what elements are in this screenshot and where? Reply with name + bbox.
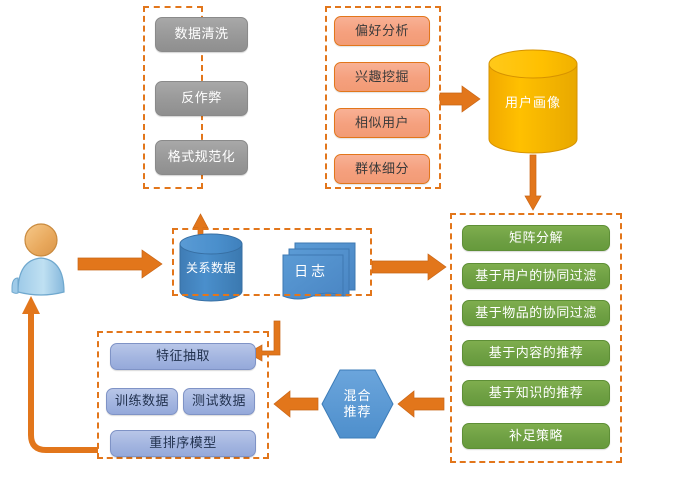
hybrid-label-line1: 混合 — [343, 388, 371, 403]
node-label: 特征抽取 — [156, 349, 210, 364]
node-label: 数据清洗 — [174, 27, 228, 42]
node-feature-extraction[interactable]: 特征抽取 — [110, 343, 256, 370]
node-label: 测试数据 — [192, 394, 246, 409]
node-label: 基于知识的推荐 — [489, 386, 584, 401]
arrow-algorithms-to-hybrid — [398, 391, 444, 417]
relational-db-cylinder[interactable]: 关系数据 — [180, 234, 242, 301]
node-label: 基于内容的推荐 — [489, 346, 584, 361]
logs-label: 日志 — [283, 261, 339, 281]
logs-stack[interactable]: 日志 — [283, 243, 355, 299]
user-profile-cylinder-label: 用户画像 — [505, 92, 561, 111]
node-interest-mining[interactable]: 兴趣挖掘 — [334, 62, 430, 92]
node-training-data[interactable]: 训练数据 — [106, 388, 178, 415]
node-item-based-cf[interactable]: 基于物品的协同过滤 — [462, 300, 610, 326]
node-label: 补足策略 — [509, 429, 563, 444]
user-profile-cylinder[interactable]: 用户画像 — [489, 50, 577, 153]
node-label: 群体细分 — [355, 162, 409, 177]
arrow-user-to-data — [78, 250, 162, 278]
node-test-data[interactable]: 测试数据 — [183, 388, 255, 415]
node-label: 矩阵分解 — [509, 231, 563, 246]
node-label: 偏好分析 — [355, 24, 409, 39]
node-knowledge-based-recommendation[interactable]: 基于知识的推荐 — [462, 380, 610, 406]
user-person-icon — [12, 224, 64, 295]
node-matrix-factorization[interactable]: 矩阵分解 — [462, 225, 610, 251]
node-label: 训练数据 — [115, 394, 169, 409]
node-label: 相似用户 — [355, 116, 409, 131]
hybrid-recommendation-hexagon[interactable]: 混合 推荐 — [322, 370, 393, 438]
node-similar-users[interactable]: 相似用户 — [334, 108, 430, 138]
node-user-based-cf[interactable]: 基于用户的协同过滤 — [462, 263, 610, 289]
node-reranking-model[interactable]: 重排序模型 — [110, 430, 256, 457]
node-preference-analysis[interactable]: 偏好分析 — [334, 16, 430, 46]
node-label: 基于用户的协同过滤 — [475, 269, 597, 284]
node-label: 基于物品的协同过滤 — [475, 306, 597, 321]
node-label: 兴趣挖掘 — [355, 70, 409, 85]
arrow-hybrid-to-model — [274, 391, 318, 417]
hybrid-label-line2: 推荐 — [343, 404, 371, 419]
relational-db-label: 关系数据 — [186, 259, 236, 276]
node-format-normalization[interactable]: 格式规范化 — [155, 140, 248, 175]
diagram-canvas: 数据清洗 反作弊 格式规范化 偏好分析 兴趣挖掘 相似用户 群体细分 用户画像 … — [0, 0, 674, 486]
node-anti-fraud[interactable]: 反作弊 — [155, 81, 248, 116]
node-content-based-recommendation[interactable]: 基于内容的推荐 — [462, 340, 610, 366]
node-supplement-strategy[interactable]: 补足策略 — [462, 423, 610, 449]
arrow-profile-to-algorithms — [525, 155, 541, 210]
arrow-model-feedback-to-user — [22, 296, 98, 450]
node-data-cleaning[interactable]: 数据清洗 — [155, 17, 248, 52]
node-label: 反作弊 — [181, 91, 222, 106]
node-label: 格式规范化 — [168, 150, 236, 165]
arrow-data-to-algorithms — [372, 254, 446, 280]
arrow-analysis-to-profile — [440, 86, 480, 112]
node-label: 重排序模型 — [149, 436, 217, 451]
node-group-segmentation[interactable]: 群体细分 — [334, 154, 430, 184]
hybrid-recommendation-label: 混合 推荐 — [343, 388, 371, 421]
